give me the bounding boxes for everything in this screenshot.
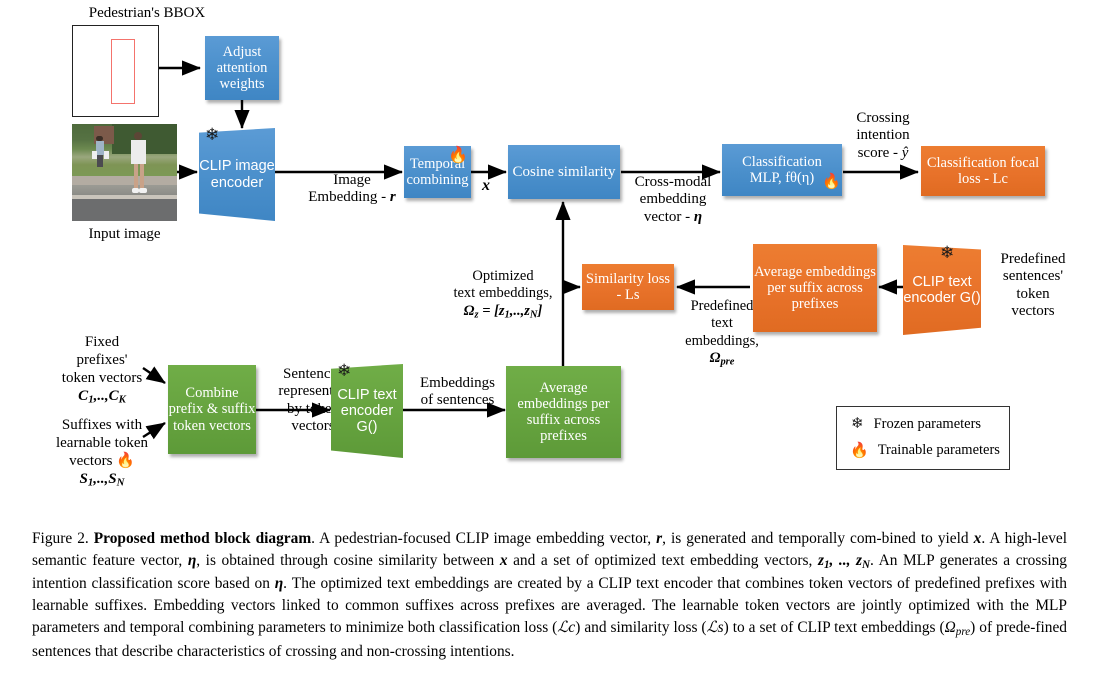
combine-prefix-suffix-block[interactable]: Combine prefix & suffix token vectors <box>168 365 256 454</box>
average-embeddings-green-block[interactable]: Average embeddings per suffix across pre… <box>506 366 621 458</box>
flame-icon-mlp: 🔥 <box>822 172 841 191</box>
legend-flame-icon: 🔥 <box>850 441 869 460</box>
fixed-prefixes-label: Fixedprefixes'token vectors C1,..,CK <box>42 333 162 407</box>
bbox-frame <box>72 25 159 117</box>
clip-text-encoder-orange-label: CLIP text encoder G() <box>903 274 981 306</box>
block-diagram: Pedestrian's BBOX Input image Adjust att… <box>0 0 1097 520</box>
cosine-similarity-block[interactable]: Cosine similarity <box>508 145 620 199</box>
embeddings-of-sentences-label: Embeddingsof sentences <box>405 375 510 410</box>
pedestrian-bbox-title: Pedestrian's BBOX <box>52 5 242 22</box>
flame-icon: 🔥 <box>448 145 468 165</box>
crossing-intention-score-label: Crossingintentionscore - ŷ <box>838 110 928 162</box>
predefined-sentences-tokens-label: Predefinedsentences'tokenvectors <box>978 251 1088 321</box>
input-image-label: Input image <box>62 226 187 243</box>
figure-number: Figure 2. <box>32 530 89 547</box>
snowflake-icon: ❄ <box>205 126 219 143</box>
clip-image-encoder-label: CLIP image encoder <box>199 158 275 190</box>
clip-text-encoder-green-label: CLIP text encoder G() <box>331 387 403 436</box>
legend-box: ❄ Frozen parameters 🔥 Trainable paramete… <box>836 406 1010 470</box>
classification-mlp-line2: MLP, fθ(η) <box>750 170 814 186</box>
legend-frozen-label: Frozen parameters <box>874 416 982 433</box>
suffixes-learnable-label: Suffixes withlearnable tokenvectors 🔥 S1… <box>38 416 166 490</box>
classification-focal-loss-block[interactable]: Classification focal loss - Lc <box>921 146 1045 196</box>
classification-mlp-line1: Classification <box>742 154 822 170</box>
legend-snowflake-icon: ❄ <box>851 417 864 432</box>
figure-bold-title: Proposed method block diagram <box>94 530 311 547</box>
adjust-attention-weights-block[interactable]: Adjust attention weights <box>205 36 279 100</box>
flame-icon-suffix: 🔥 <box>116 452 135 470</box>
average-embeddings-orange-block[interactable]: Average embeddings per suffix across pre… <box>753 244 877 332</box>
input-image <box>72 124 177 221</box>
bbox-red-rect <box>111 39 135 104</box>
legend-trainable-label: Trainable parameters <box>878 442 1000 459</box>
caption-body: . A pedestrian-focused CLIP image embedd… <box>32 530 1067 660</box>
image-embedding-label: ImageEmbedding - r <box>282 172 422 207</box>
optimized-text-embeddings-label: Optimizedtext embeddings, Ωz = [z1,..,zN… <box>443 268 563 322</box>
snowflake-icon-text-enc-green: ❄ <box>337 362 351 379</box>
x-symbol-label: x <box>466 177 506 196</box>
snowflake-icon-text-enc-orange: ❄ <box>940 244 954 261</box>
figure-caption: Figure 2. Proposed method block diagram.… <box>32 528 1067 663</box>
cross-modal-embedding-label: Cross-modalembeddingvector - η <box>614 174 732 226</box>
similarity-loss-block[interactable]: Similarity loss - Ls <box>582 264 674 310</box>
